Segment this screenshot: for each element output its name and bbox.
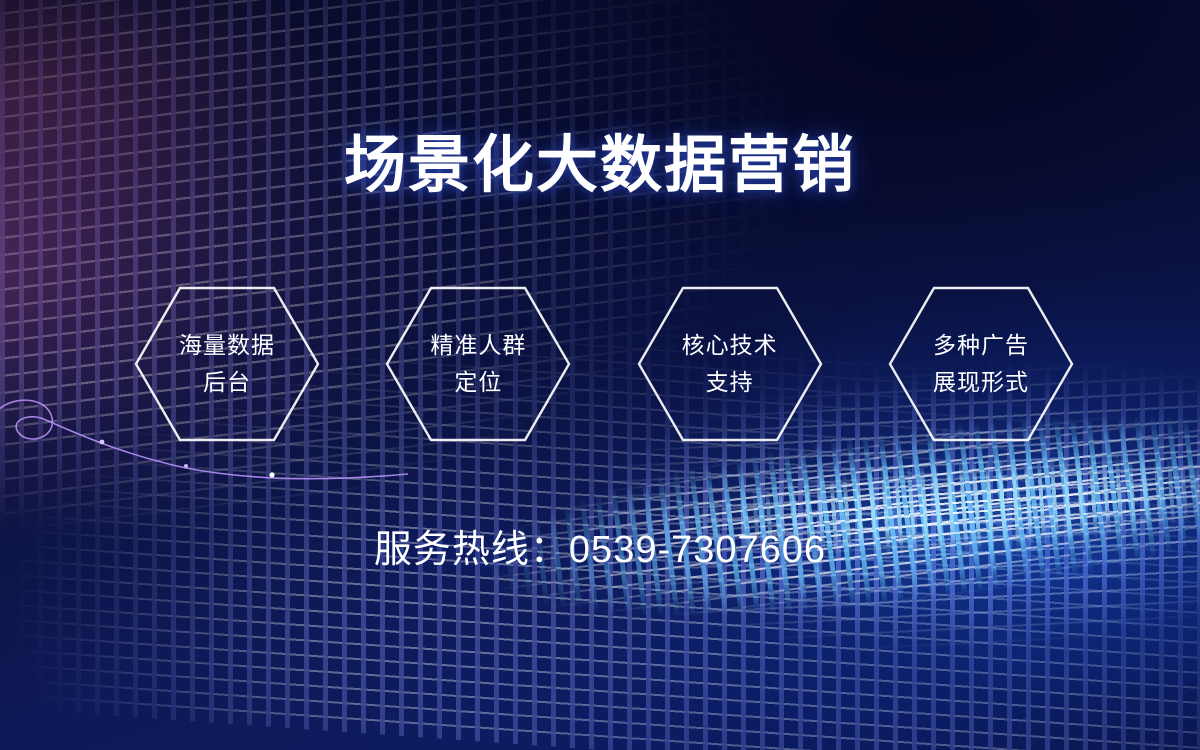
service-hotline[interactable]: 服务热线：0539-7307606 [0,518,1200,573]
page-title: 场景化大数据营销 [0,132,1200,200]
hexagon-label: 核心技术 支持 [682,327,778,401]
hexagon-label: 海量数据 后台 [179,327,275,401]
hexagon-precise-audience-targeting[interactable]: 精准人群 定位 [384,285,572,443]
banner-content: 场景化大数据营销 海量数据 后台 精准人群 定位 核心技术 支持 [0,0,1200,750]
hexagon-core-technology-support[interactable]: 核心技术 支持 [636,285,824,443]
hexagon-label: 多种广告 展现形式 [933,327,1029,401]
hexagon-multiple-ad-formats[interactable]: 多种广告 展现形式 [887,285,1075,443]
feature-hexagon-row: 海量数据 后台 精准人群 定位 核心技术 支持 多种广告 展现形式 [133,285,1075,443]
hexagon-label: 精准人群 定位 [430,327,526,401]
banner-stage: 场景化大数据营销 海量数据 后台 精准人群 定位 核心技术 支持 [0,0,1200,750]
hexagon-massive-data-backend[interactable]: 海量数据 后台 [133,285,321,443]
